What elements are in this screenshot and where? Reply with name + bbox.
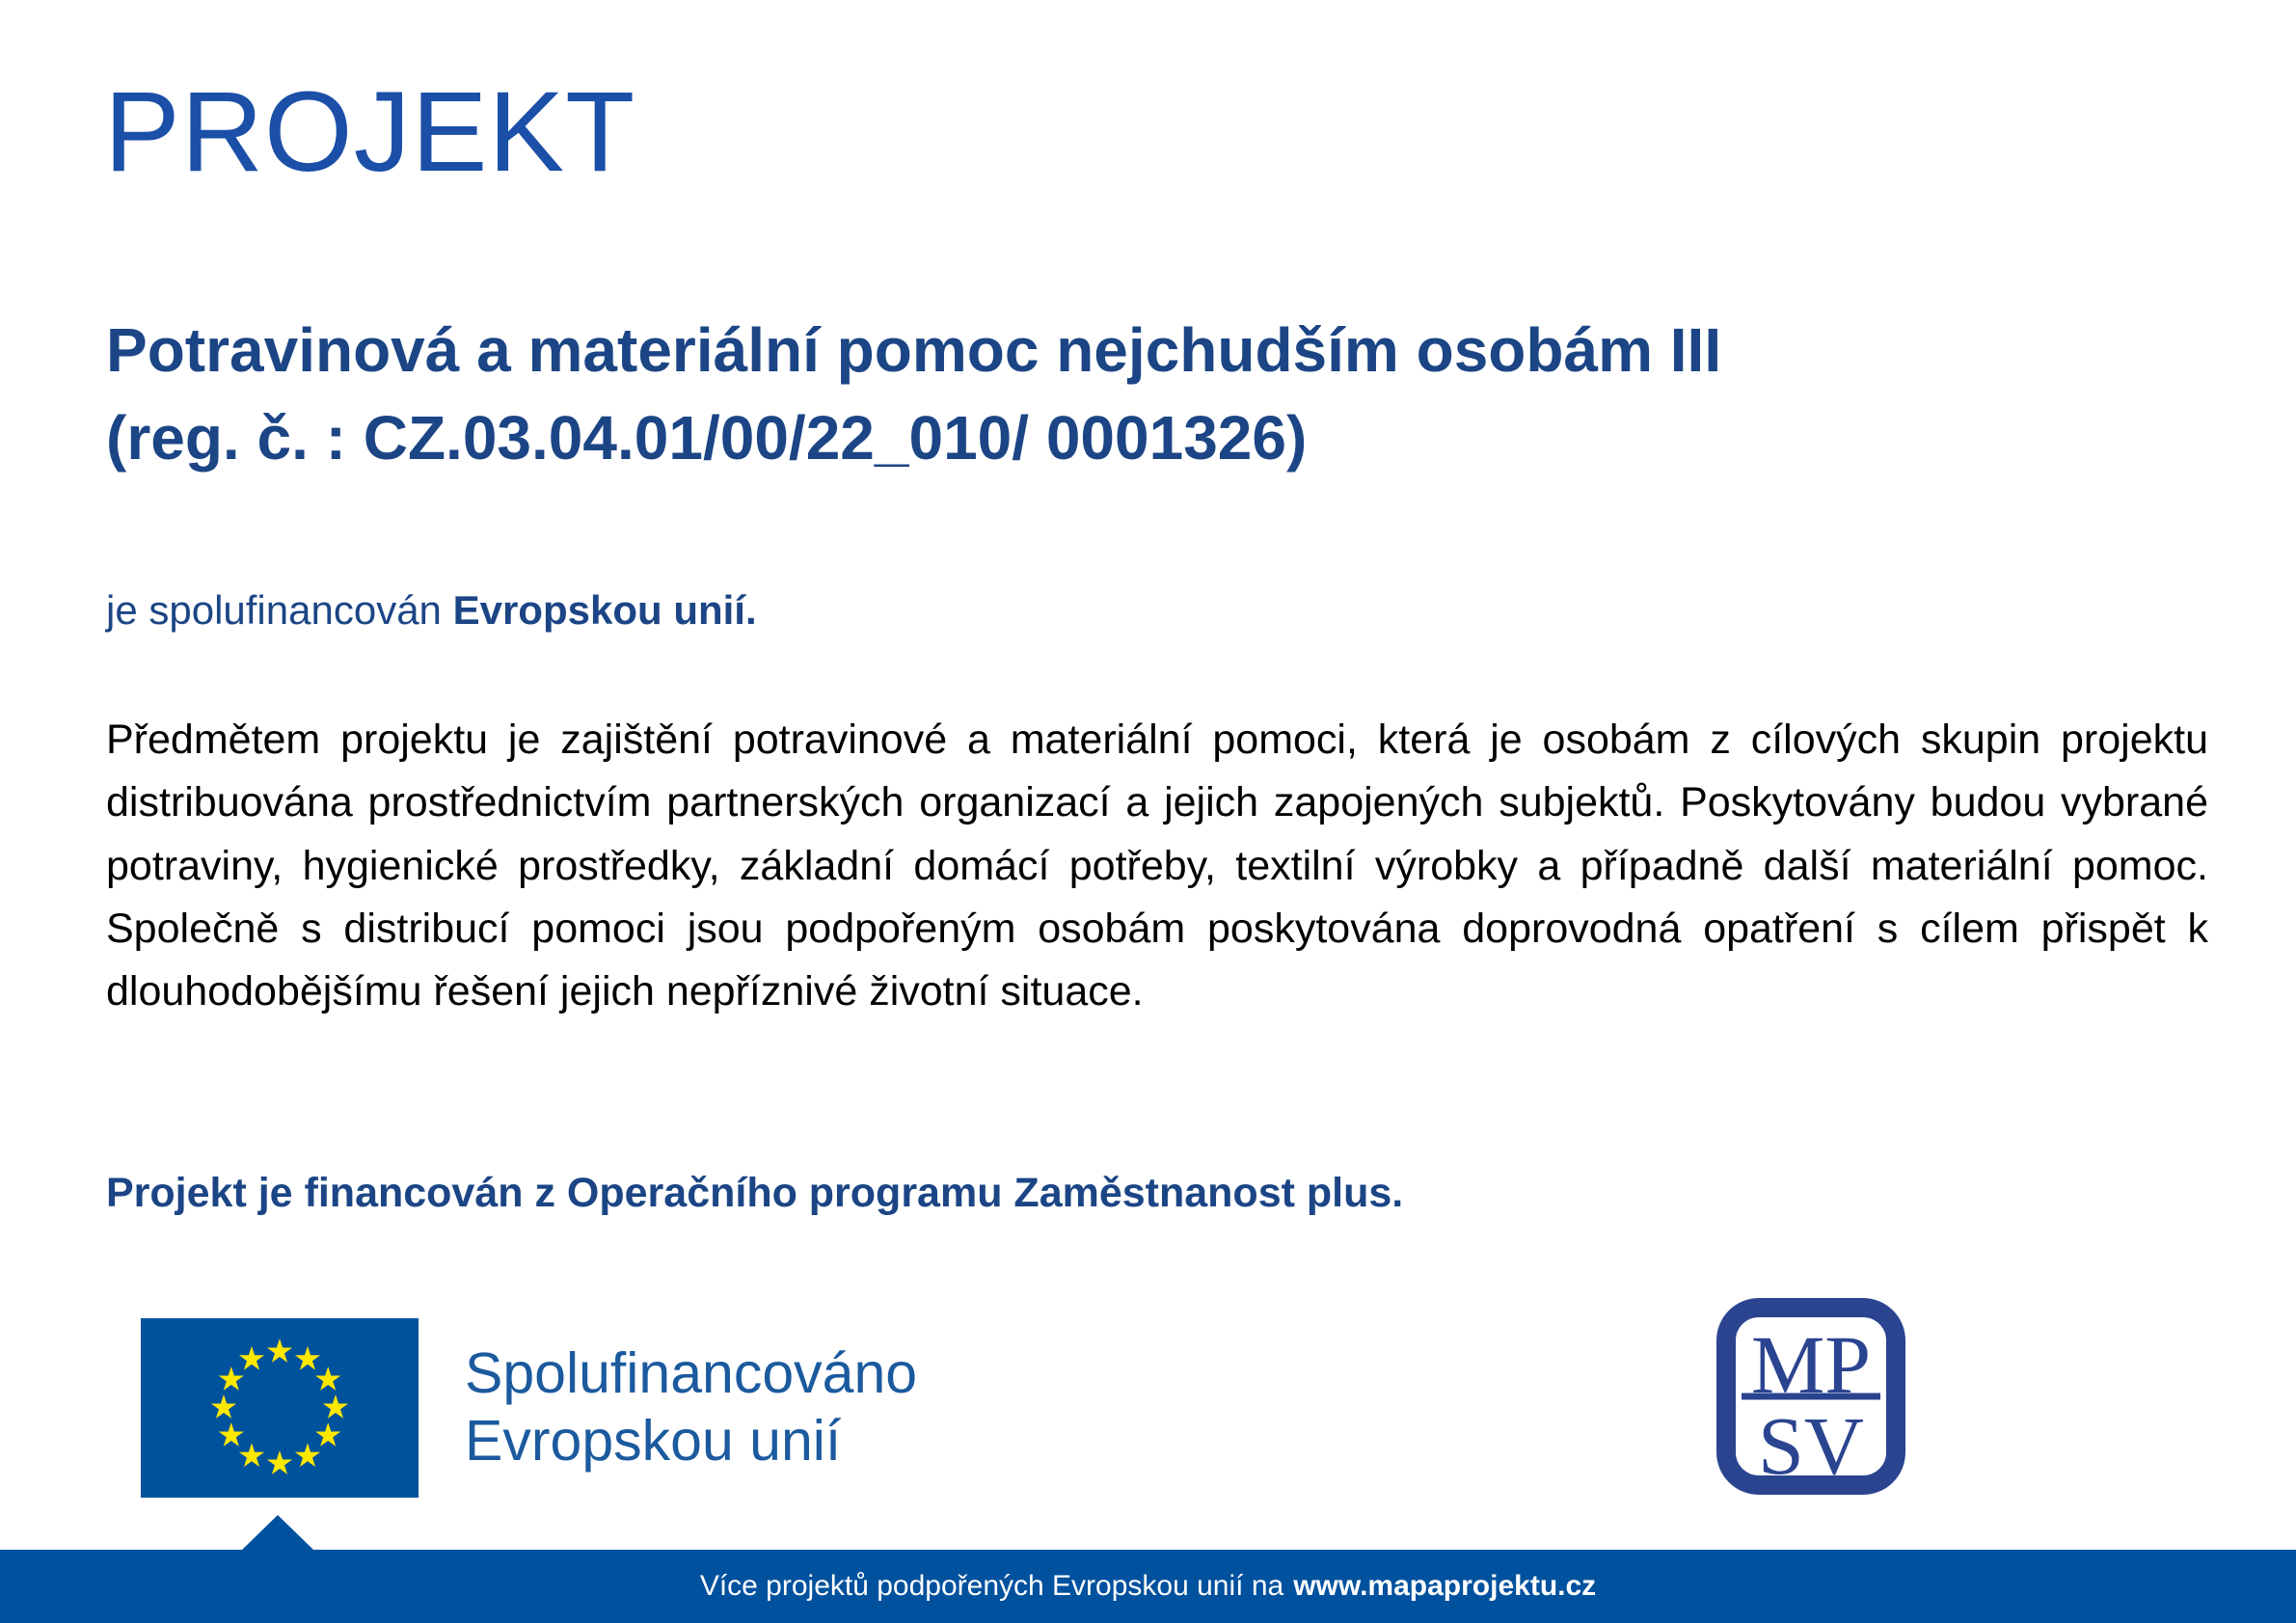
cofinancing-prefix: je spolufinancován: [106, 587, 453, 633]
project-description-paragraph: Předmětem projektu je zajištění potravin…: [106, 709, 2208, 1024]
project-title-block: Potravinová a materiální pomoc nejchudší…: [106, 307, 2208, 482]
poster-canvas: PROJEKT Potravinová a materiální pomoc n…: [0, 0, 2296, 1623]
footer-prefix: Více projektů podpořených Evropskou unií…: [700, 1570, 1283, 1603]
mpsv-logo: MP SV: [1715, 1288, 1907, 1504]
project-title-line-1: Potravinová a materiální pomoc nejchudší…: [106, 307, 2208, 394]
cofinancing-emphasis: Evropskou unií.: [453, 587, 757, 633]
footer-text: Více projektů podpořených Evropskou unií…: [0, 1550, 2296, 1623]
page-title: PROJEKT: [104, 75, 635, 189]
eu-caption-line-1: Spolufinancováno: [465, 1340, 917, 1408]
eu-logo-caption: Spolufinancováno Evropskou unií: [465, 1340, 917, 1474]
mpsv-bottom-letters: SV: [1758, 1399, 1864, 1492]
cofinancing-statement: je spolufinancován Evropskou unií.: [106, 584, 757, 637]
european-union-flag-icon: [141, 1318, 419, 1498]
mpsv-top-letters: MP: [1751, 1318, 1871, 1411]
eu-caption-line-2: Evropskou unií: [465, 1408, 917, 1475]
footer-url-link[interactable]: www.mapaprojektu.cz: [1293, 1570, 1596, 1603]
eu-cofinancing-logo: Spolufinancováno Evropskou unií: [141, 1318, 917, 1498]
funding-programme-statement: Projekt je financován z Operačního progr…: [106, 1170, 1403, 1217]
footer-bar: Více projektů podpořených Evropskou unií…: [0, 1550, 2296, 1623]
footer-arrow-icon: [242, 1515, 313, 1550]
project-registration-number: (reg. č. : CZ.03.04.01/00/22_010/ 000132…: [106, 394, 2208, 482]
